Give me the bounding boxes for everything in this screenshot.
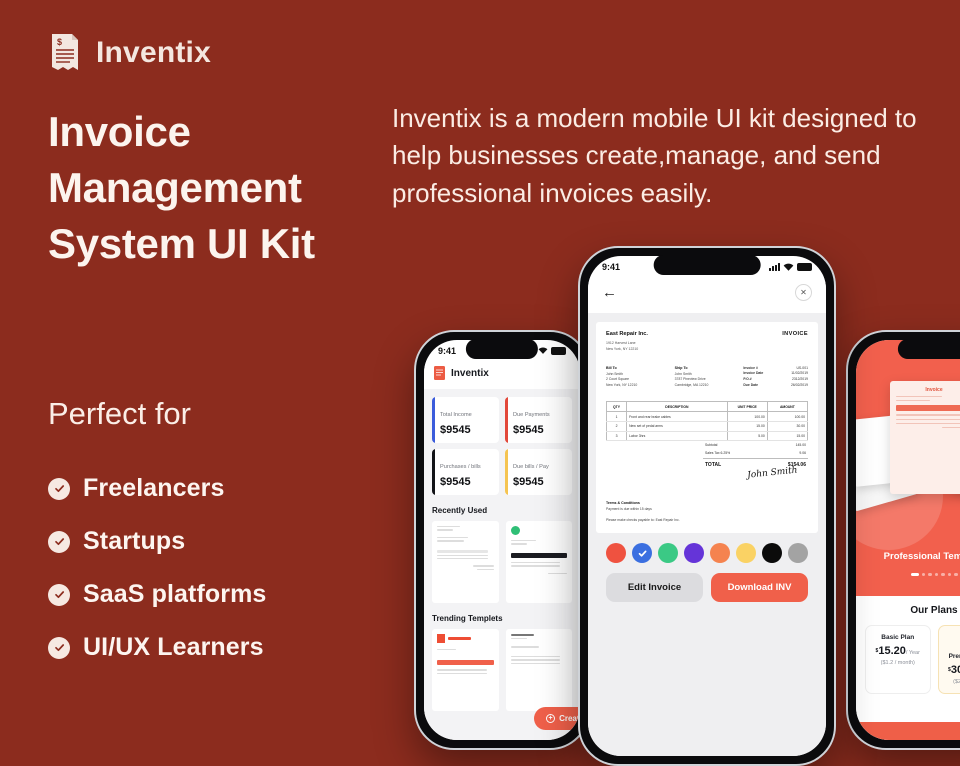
column-header-amount: AMOUNT [767,402,807,412]
status-bar-time: 9:41 [602,262,620,272]
plans-section: Our Plans Basic Plan $15.20/ Year ($1.2 … [856,596,960,740]
check-circle-icon [48,637,70,659]
stat-label: Purchases / bills [440,464,481,470]
hero-description: Inventix is a modern mobile UI kit desig… [392,100,952,212]
color-swatch-gray[interactable] [788,543,808,563]
cell-description: Labor 3hrs [627,431,728,441]
invoice-scroll-area: East Repair Inc. 1912 Harvest Lane New Y… [588,313,826,756]
template-card[interactable] [432,521,499,603]
stat-value: $9545 [513,476,566,488]
invoice-parties: Bill To John Smith 2 Court Square New Yo… [606,366,808,390]
close-circle-icon[interactable]: ✕ [795,284,812,301]
total-label: TOTAL [705,462,721,468]
stat-card-grid: Total Income $9545 Due Payments $9545 Pu… [432,397,572,495]
stat-card-due-bills[interactable]: Due bills / Pay $9545 [505,449,572,495]
color-swatch-blue-selected[interactable] [632,543,652,563]
list-item: UI/UX Learners [48,621,368,674]
dynamic-island [466,339,538,359]
terms-line-1: Payment is due within 15 days [606,507,808,513]
svg-text:$: $ [57,37,62,47]
preview-title: Invoice [896,387,960,393]
cell-qty: 1 [607,412,627,422]
poster-canvas: $ Inventix Invoice Management System UI … [0,0,960,725]
list-item: SaaS platforms [48,568,368,621]
cell-unit-price: 100.00 [727,412,767,422]
stat-label: Due bills / Pay [513,464,549,470]
phone-screen-dashboard: 9:41 Inventix Total Income $9545 [424,340,580,740]
ship-to-lines: John Smith 3787 Pineview Drive Cambridge… [675,372,744,389]
app-name: Inventix [451,368,489,379]
color-swatch-orange[interactable] [710,543,730,563]
onboarding-title: Professional Template [856,551,960,562]
color-swatch-purple[interactable] [684,543,704,563]
invoice-document: East Repair Inc. 1912 Harvest Lane New Y… [596,322,818,533]
cell-amount: 30.00 [767,421,807,431]
check-circle-icon [48,584,70,606]
cell-description: New set of pedal arms [627,421,728,431]
phone-mockup-dashboard: 9:41 Inventix Total Income $9545 [414,330,590,750]
status-bar-time: 9:41 [438,346,456,356]
cell-unit-price: 15.00 [727,421,767,431]
carousel-dot[interactable] [922,573,926,577]
plan-name: Basic Plan [872,634,924,641]
cell-amount: 100.00 [767,412,807,422]
carousel-dot[interactable] [935,573,939,577]
dynamic-island [654,255,761,275]
check-icon [637,548,648,559]
plan-price: $30.45/ Year [945,664,960,676]
list-item: Freelancers [48,462,368,515]
color-swatch-yellow[interactable] [736,543,756,563]
phone-mockup-plans: Invoice Professional Template [846,330,960,750]
cell-amount: 15.00 [767,431,807,441]
color-swatch-black[interactable] [762,543,782,563]
terms-title: Terms & Conditions [606,501,808,505]
perfect-for-title: Perfect for [48,396,191,432]
check-circle-icon [48,531,70,553]
stat-card-total-income[interactable]: Total Income $9545 [432,397,499,443]
section-title-recently-used: Recently Used [432,506,572,515]
plan-card-basic[interactable]: Basic Plan $15.20/ Year ($1.2 / month) [865,625,931,694]
stat-card-due-payments[interactable]: Due Payments $9545 [505,397,572,443]
meta-key: Due Date [743,383,758,389]
brand-name: Inventix [96,36,211,70]
cell-qty: 3 [607,431,627,441]
battery-icon [797,263,812,271]
template-card[interactable] [432,629,499,711]
template-card[interactable] [506,521,573,603]
onboarding-hero: Invoice Professional Template [856,340,960,596]
wifi-icon [538,347,548,355]
cell-description: Front and rear brake cables [627,412,728,422]
plans-title: Our Plans [865,605,960,616]
column-header-description: DESCRIPTION [627,402,728,412]
create-invoice-fab[interactable]: + Create [534,707,580,730]
app-header: Inventix [424,358,580,389]
stat-label: Total Income [440,412,472,418]
list-item: Startups [48,515,368,568]
status-bar-indicators [769,263,812,272]
section-title-trending-templets: Trending Templets [432,614,572,623]
invoice-meta-block: Invoice # US-001 Invoice Date 11/02/2019… [743,366,808,390]
invoice-preview-card: Invoice [890,381,960,494]
plan-card-premium[interactable]: Premium Plan $30.45/ Year ($2.5 / month) [938,625,960,694]
summary-row: Subtotal 145.00 [703,441,808,449]
list-item-label: Freelancers [83,474,224,503]
fab-label: Create [559,714,580,723]
page-title: Invoice Management System UI Kit [48,104,388,272]
template-card[interactable] [506,629,573,711]
carousel-dot[interactable] [954,573,958,577]
summary-row: Sales Tax 6.25% 9.06 [703,449,808,457]
invoice-document-icon [434,366,445,380]
color-swatch-red[interactable] [606,543,626,563]
perfect-for-list: Freelancers Startups SaaS platforms UI/U… [48,462,368,674]
arrow-left-icon[interactable]: ← [602,285,617,300]
carousel-dot[interactable] [948,573,952,577]
carousel-dots[interactable] [856,573,960,577]
summary-value: 9.06 [799,451,806,455]
list-item-label: SaaS platforms [83,580,266,609]
recently-used-row [432,521,572,603]
summary-key: Sales Tax 6.25% [705,451,730,455]
invoice-header: East Repair Inc. 1912 Harvest Lane New Y… [606,331,808,353]
download-invoice-button[interactable]: Download INV [711,573,808,602]
phone-mockup-invoice-detail: 9:41 ← ✕ East Repair Inc. 1912 Harvest L… [578,246,836,766]
bill-to-lines: John Smith 2 Court Square New York, NY 1… [606,372,675,389]
carousel-dot[interactable] [911,573,919,577]
invoice-doc-type: INVOICE [782,331,808,337]
bill-to-block: Bill To John Smith 2 Court Square New Yo… [606,366,675,390]
summary-key: Subtotal [705,443,717,447]
dynamic-island [898,339,960,359]
stat-value: $9545 [513,424,566,436]
nav-bar: ← ✕ [588,274,826,313]
stat-value: $9545 [440,424,493,436]
line-items-table: QTY DESCRIPTION UNIT PRICE AMOUNT 1 Fron… [606,401,808,441]
plan-name: Premium Plan [945,653,960,660]
check-circle-icon [48,478,70,500]
phone-screen-plans: Invoice Professional Template [856,340,960,740]
column-header-qty: QTY [607,402,627,412]
cell-unit-price: 5.00 [727,431,767,441]
plan-monthly: ($1.2 / month) [872,660,924,666]
color-swatch-picker[interactable] [596,533,818,571]
dashboard-body: Total Income $9545 Due Payments $9545 Pu… [424,389,580,740]
carousel-dot[interactable] [941,573,945,577]
summary-value: 145.00 [796,443,806,447]
wifi-icon [783,263,794,272]
table-row: 3 Labor 3hrs 5.00 15.00 [607,431,808,441]
table-row: 2 New set of pedal arms 15.00 30.00 [607,421,808,431]
invoice-company-name: East Repair Inc. [606,331,648,337]
phone-screen-invoice-detail: 9:41 ← ✕ East Repair Inc. 1912 Harvest L… [588,256,826,756]
meta-row: Due Date 26/02/2019 [743,383,808,389]
plus-circle-icon: + [546,714,555,723]
edit-invoice-button[interactable]: Edit Invoice [606,573,703,602]
table-row: 1 Front and rear brake cables 100.00 100… [607,412,808,422]
stat-label: Due Payments [513,412,550,418]
plan-card-list: Basic Plan $15.20/ Year ($1.2 / month) P… [865,625,960,694]
plan-price: $15.20/ Year [872,645,924,657]
color-swatch-green[interactable] [658,543,678,563]
carousel-dot[interactable] [928,573,932,577]
table-header-row: QTY DESCRIPTION UNIT PRICE AMOUNT [607,402,808,412]
column-header-unit-price: UNIT PRICE [727,402,767,412]
list-item-label: UI/UX Learners [83,633,264,662]
trending-templets-row [432,629,572,711]
battery-icon [551,347,566,355]
bill-to-title: Bill To [606,366,675,370]
cellular-bars-icon [769,263,780,271]
invoice-action-bar: Edit Invoice Download INV [596,571,818,614]
cell-qty: 2 [607,421,627,431]
brand-lockup: $ Inventix [48,32,211,74]
invoice-document-icon: $ [48,32,82,74]
stat-card-purchases-bills[interactable]: Purchases / bills $9545 [432,449,499,495]
invoice-company-address: 1912 Harvest Lane New York, NY 12210 [606,341,648,353]
ship-to-title: Ship To [675,366,744,370]
plan-monthly: ($2.5 / month) [945,679,960,685]
terms-and-conditions: Terms & Conditions Payment is due within… [606,501,808,524]
stat-value: $9545 [440,476,493,488]
terms-line-2: Please make checks payable to: East Repa… [606,518,808,524]
ship-to-block: Ship To John Smith 3787 Pineview Drive C… [675,366,744,390]
meta-value: 26/02/2019 [791,383,808,389]
list-item-label: Startups [83,527,185,556]
